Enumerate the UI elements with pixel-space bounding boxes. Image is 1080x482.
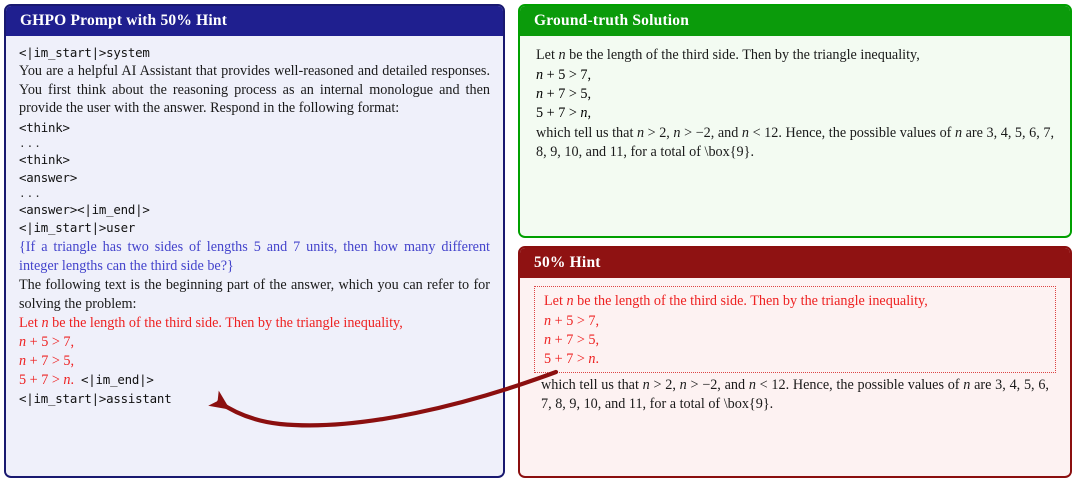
prompt-line-ellipsis-2: ... bbox=[19, 187, 490, 201]
hint-panel-body: Let n be the length of the third side. T… bbox=[520, 278, 1070, 475]
hint-remainder: which tell us that n > 2, n > −2, and n … bbox=[532, 376, 1058, 413]
groundtruth-inequality-3: 5 + 7 > n, bbox=[536, 104, 1054, 123]
hint-panel: 50% Hint Let n be the length of the thir… bbox=[518, 246, 1072, 478]
prompt-hint-line-1: Let n be the length of the third side. T… bbox=[19, 314, 490, 332]
groundtruth-inequality-1: n + 5 > 7, bbox=[536, 66, 1054, 85]
hint-intro: Let n be the length of the third side. T… bbox=[544, 292, 1046, 310]
groundtruth-panel-body: Let n be the length of the third side. T… bbox=[520, 36, 1070, 235]
prompt-hint-line-3: n + 7 > 5, bbox=[19, 352, 490, 371]
hint-inequality-1: n + 5 > 7, bbox=[544, 312, 1046, 331]
prompt-hint-line-2: n + 5 > 7, bbox=[19, 333, 490, 352]
prompt-hint-line-4-row: 5 + 7 > n. <|im_end|> bbox=[19, 371, 490, 390]
prompt-panel-title: GHPO Prompt with 50% Hint bbox=[6, 6, 503, 36]
prompt-line-answer-close-im-end: <answer><|im_end|> bbox=[19, 201, 490, 219]
prompt-line-think-close: <think> bbox=[19, 151, 490, 169]
groundtruth-panel: Ground-truth Solution Let n be the lengt… bbox=[518, 4, 1072, 238]
prompt-instruction-text: The following text is the beginning part… bbox=[19, 276, 490, 313]
prompt-line-think-open: <think> bbox=[19, 119, 490, 137]
prompt-line-im-start-system: <|im_start|>system bbox=[19, 44, 490, 62]
hint-panel-title: 50% Hint bbox=[520, 248, 1070, 278]
hint-highlight-box: Let n be the length of the third side. T… bbox=[534, 286, 1056, 374]
prompt-panel: GHPO Prompt with 50% Hint <|im_start|>sy… bbox=[4, 4, 505, 478]
hint-inequality-3: 5 + 7 > n. bbox=[544, 350, 1046, 369]
prompt-line-im-start-assistant: <|im_start|>assistant bbox=[19, 390, 490, 408]
prompt-line-im-start-user: <|im_start|>user bbox=[19, 219, 490, 237]
groundtruth-inequality-2: n + 7 > 5, bbox=[536, 85, 1054, 104]
groundtruth-intro: Let n be the length of the third side. T… bbox=[536, 46, 1054, 64]
prompt-question-text: {If a triangle has two sides of lengths … bbox=[19, 238, 490, 275]
figure-stage: GHPO Prompt with 50% Hint <|im_start|>sy… bbox=[0, 0, 1080, 482]
prompt-hint-line-4: 5 + 7 > n. bbox=[19, 371, 74, 390]
prompt-panel-body: <|im_start|>system You are a helpful AI … bbox=[6, 36, 503, 475]
prompt-line-im-end-inline: <|im_end|> bbox=[81, 371, 154, 389]
hint-inequality-2: n + 7 > 5, bbox=[544, 331, 1046, 350]
prompt-line-ellipsis-1: ... bbox=[19, 137, 490, 151]
prompt-system-prose: You are a helpful AI Assistant that prov… bbox=[19, 62, 490, 117]
prompt-line-answer-open: <answer> bbox=[19, 169, 490, 187]
groundtruth-conclusion: which tell us that n > 2, n > −2, and n … bbox=[536, 124, 1054, 161]
groundtruth-panel-title: Ground-truth Solution bbox=[520, 6, 1070, 36]
